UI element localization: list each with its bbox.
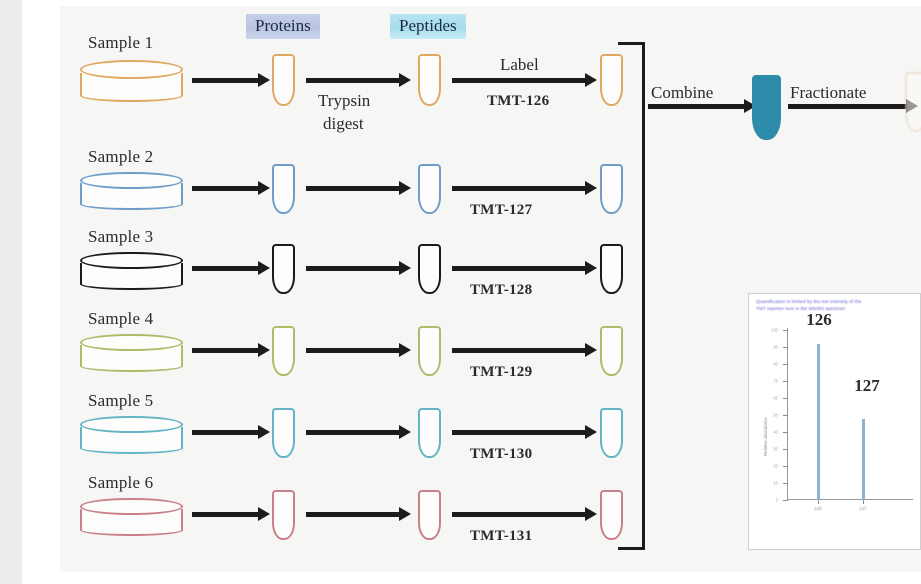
x-tick-text: 126 <box>814 506 822 511</box>
y-tick-text: 10 <box>773 481 778 486</box>
spectrum-peak-label-126: 126 <box>806 310 832 330</box>
arrow-label-3 <box>452 266 587 271</box>
process-label-label: Label <box>500 56 539 73</box>
process-label-digest: digest <box>323 115 364 132</box>
y-tick: 10 <box>783 483 788 484</box>
inset-header-line-1: Quantification is limited by the low int… <box>756 299 916 306</box>
y-tick: 80 <box>783 364 788 365</box>
tmt-label-129: TMT-129 <box>470 365 532 380</box>
tube-protein-2 <box>272 164 295 214</box>
tube-fraction-offscreen <box>905 72 921 132</box>
tmt-label-131: TMT-131 <box>470 529 532 544</box>
tube-protein-5 <box>272 408 295 458</box>
process-label-fractionate: Fractionate <box>790 84 866 101</box>
arrow-fractionate <box>788 104 908 109</box>
spectrum-plot-area: Relative abundance 0 10 20 30 40 50 60 7… <box>787 328 913 500</box>
y-tick-text: 80 <box>773 362 778 367</box>
y-tick: 20 <box>783 466 788 467</box>
tube-protein-1 <box>272 54 295 106</box>
tmt-label-127: TMT-127 <box>470 203 532 218</box>
process-label-trypsin: Trypsin <box>318 92 370 109</box>
y-tick-text: 20 <box>773 464 778 469</box>
tube-protein-6 <box>272 490 295 540</box>
arrow-label-1 <box>452 78 587 83</box>
sample-label-3: Sample 3 <box>88 228 153 245</box>
y-tick-text: 0 <box>776 498 778 503</box>
y-tick: 60 <box>783 398 788 399</box>
x-tick-text: 127 <box>859 506 867 511</box>
x-tick: 126 <box>818 500 819 505</box>
spectrum-peak-127 <box>862 419 865 500</box>
y-tick-text: 70 <box>773 379 778 384</box>
arrow-digest-2 <box>306 186 401 191</box>
arrow-combine <box>648 104 746 109</box>
sample-label-2: Sample 2 <box>88 148 153 165</box>
tmt-label-126: TMT-126 <box>487 94 549 109</box>
arrow-digest-3 <box>306 266 401 271</box>
arrow-lyse-2 <box>192 186 260 191</box>
y-tick: 40 <box>783 432 788 433</box>
tube-peptide-5 <box>418 408 441 458</box>
tube-peptide-3 <box>418 244 441 294</box>
arrow-label-6 <box>452 512 587 517</box>
y-tick-text: 40 <box>773 430 778 435</box>
tube-protein-3 <box>272 244 295 294</box>
tmt-label-128: TMT-128 <box>470 283 532 298</box>
tube-peptide-4 <box>418 326 441 376</box>
arrow-digest-5 <box>306 430 401 435</box>
sample-label-6: Sample 6 <box>88 474 153 491</box>
spectrum-x-axis <box>787 499 913 500</box>
tag-peptides: Peptides <box>390 14 466 39</box>
petri-dish-sample-4 <box>80 334 183 372</box>
figure-root: Proteins Peptides Trypsin digest Label C… <box>0 0 921 584</box>
arrow-lyse-5 <box>192 430 260 435</box>
y-tick: 50 <box>783 415 788 416</box>
y-tick: 0 <box>783 500 788 501</box>
tube-combined-pooled <box>752 75 781 140</box>
arrow-label-2 <box>452 186 587 191</box>
sample-label-1: Sample 1 <box>88 34 153 51</box>
y-tick: 90 <box>783 347 788 348</box>
y-tick-text: 50 <box>773 413 778 418</box>
y-tick-text: 100 <box>771 328 778 333</box>
petri-dish-sample-1 <box>80 60 183 102</box>
arrow-label-4 <box>452 348 587 353</box>
arrow-lyse-4 <box>192 348 260 353</box>
arrow-label-5 <box>452 430 587 435</box>
tube-peptide-1 <box>418 54 441 106</box>
tube-protein-4 <box>272 326 295 376</box>
tube-peptide-6 <box>418 490 441 540</box>
petri-dish-sample-6 <box>80 498 183 536</box>
y-tick-text: 30 <box>773 447 778 452</box>
x-tick: 127 <box>863 500 864 505</box>
y-tick-text: 90 <box>773 345 778 350</box>
spectrum-peak-label-127: 127 <box>854 376 880 396</box>
y-tick: 100 <box>783 330 788 331</box>
inset-header-line-2: TMT reporter ions in the MS/MS spectrum <box>756 306 916 313</box>
petri-dish-sample-5 <box>80 416 183 454</box>
spectrum-y-axis <box>787 328 788 500</box>
inset-spectrum-panel: Quantification is limited by the low int… <box>748 293 921 550</box>
sample-label-5: Sample 5 <box>88 392 153 409</box>
arrow-digest-1 <box>306 78 401 83</box>
spectrum-peak-126 <box>817 344 820 500</box>
y-tick: 30 <box>783 449 788 450</box>
tmt-label-130: TMT-130 <box>470 447 532 462</box>
spectrum-y-axis-label: Relative abundance <box>763 417 768 456</box>
process-label-combine: Combine <box>651 84 713 101</box>
arrow-lyse-1 <box>192 78 260 83</box>
arrow-digest-4 <box>306 348 401 353</box>
combine-bracket <box>618 42 645 550</box>
arrow-digest-6 <box>306 512 401 517</box>
y-tick-text: 60 <box>773 396 778 401</box>
arrow-lyse-6 <box>192 512 260 517</box>
arrow-lyse-3 <box>192 266 260 271</box>
tube-peptide-2 <box>418 164 441 214</box>
tag-proteins: Proteins <box>246 14 320 39</box>
petri-dish-sample-3 <box>80 252 183 290</box>
petri-dish-sample-2 <box>80 172 183 210</box>
y-tick: 70 <box>783 381 788 382</box>
sample-label-4: Sample 4 <box>88 310 153 327</box>
